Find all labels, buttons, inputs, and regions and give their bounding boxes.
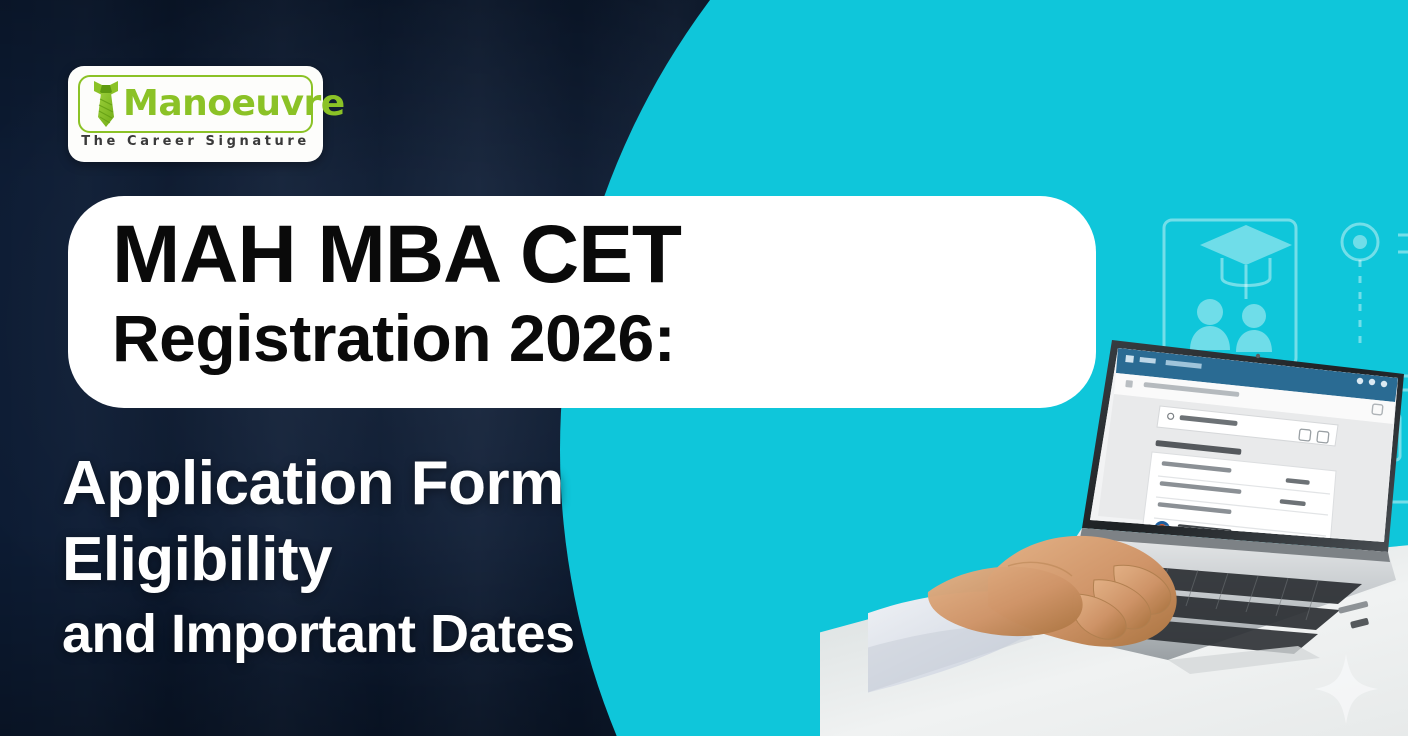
graduation-cap-icon (1200, 225, 1292, 299)
logo-wordmark: Manoeuvre (86, 79, 345, 129)
subheadline-line-1: Application Form (62, 446, 822, 522)
headline-line-2: Registration 2026: (112, 300, 675, 376)
sparkle-icon (1312, 652, 1380, 726)
brand-logo[interactable]: Manoeuvre The Career Signature (68, 66, 323, 162)
headline-panel: MAH MBA CET Registration 2026: (68, 196, 1096, 408)
logo-tagline: The Career Signature (68, 134, 323, 149)
poster-canvas: Manoeuvre The Career Signature MAH MBA C… (0, 0, 1408, 736)
subheadline: Application Form Eligibility and Importa… (62, 446, 822, 670)
arrow-right-icon (1398, 227, 1408, 252)
subheadline-line-2: Eligibility (62, 522, 822, 598)
subheadline-line-3: and Important Dates (62, 598, 822, 670)
necktie-icon (86, 79, 126, 129)
headline-line-1: MAH MBA CET (112, 208, 681, 302)
logo-text: Manoeuvre (123, 79, 345, 129)
